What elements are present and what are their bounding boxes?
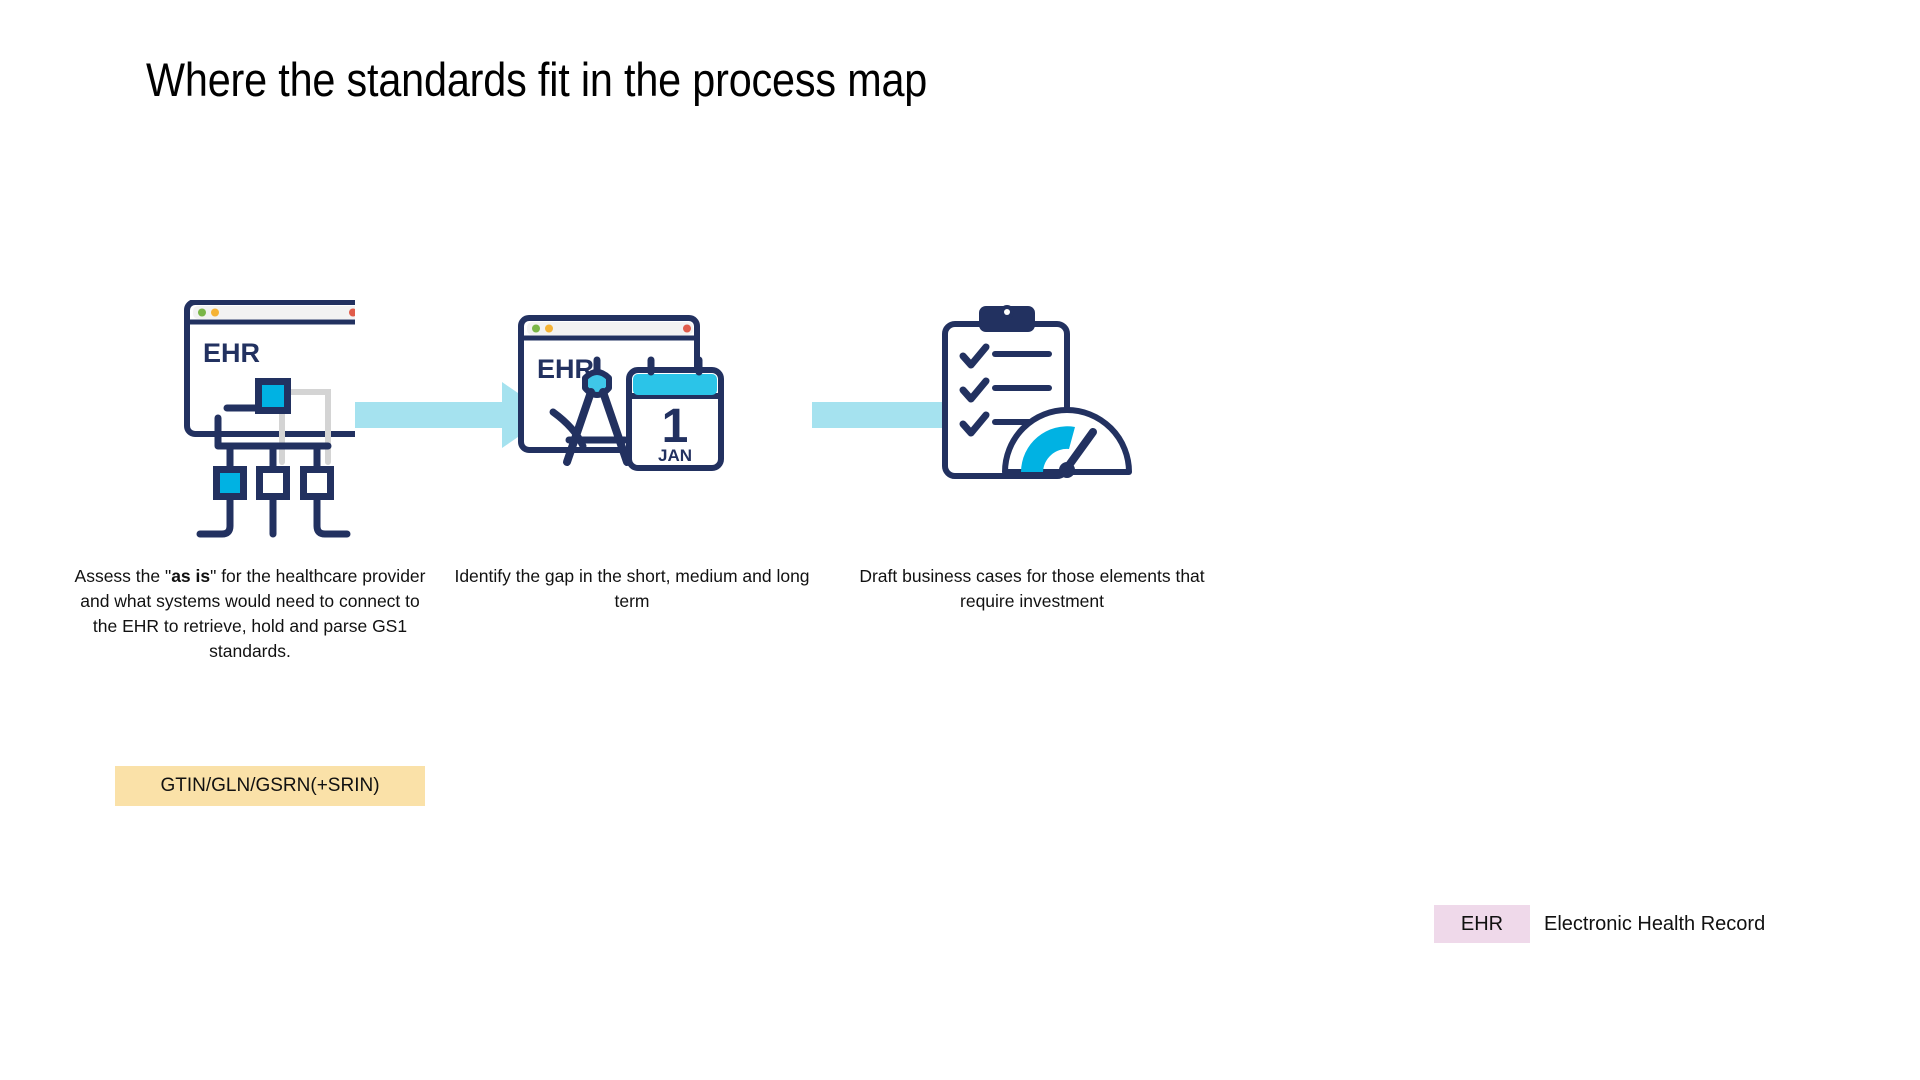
window-label-text: EHR bbox=[203, 338, 260, 368]
process-step-assess: EHR bbox=[70, 300, 430, 663]
legend-definition: Electronic Health Record bbox=[1544, 913, 1765, 936]
step-caption: Draft business cases for those elements … bbox=[830, 564, 1234, 614]
gtin-standards-badge: GTIN/GLN/GSRN(+SRIN) bbox=[115, 766, 425, 806]
clipboard-checklist-gauge-icon bbox=[830, 300, 1234, 550]
ehr-compass-calendar-icon: EHR 1 JAN bbox=[452, 300, 812, 550]
step-caption: Assess the "as is" for the healthcare pr… bbox=[70, 564, 430, 663]
step-caption: Identify the gap in the short, medium an… bbox=[452, 564, 812, 614]
ehr-browser-network-icon: EHR bbox=[70, 300, 430, 550]
calendar-month-text: JAN bbox=[658, 446, 692, 465]
slide-root: Where the standards fit in the process m… bbox=[0, 0, 1920, 1080]
caption-bold: as is bbox=[171, 566, 210, 586]
legend: EHR Electronic Health Record bbox=[1434, 905, 1765, 943]
process-step-identify-gap: EHR 1 JAN Ide bbox=[452, 300, 812, 614]
process-step-draft-business-cases: Draft business cases for those elements … bbox=[830, 300, 1234, 614]
legend-abbreviation-badge: EHR bbox=[1434, 905, 1530, 943]
caption-before: Assess the " bbox=[75, 566, 172, 586]
